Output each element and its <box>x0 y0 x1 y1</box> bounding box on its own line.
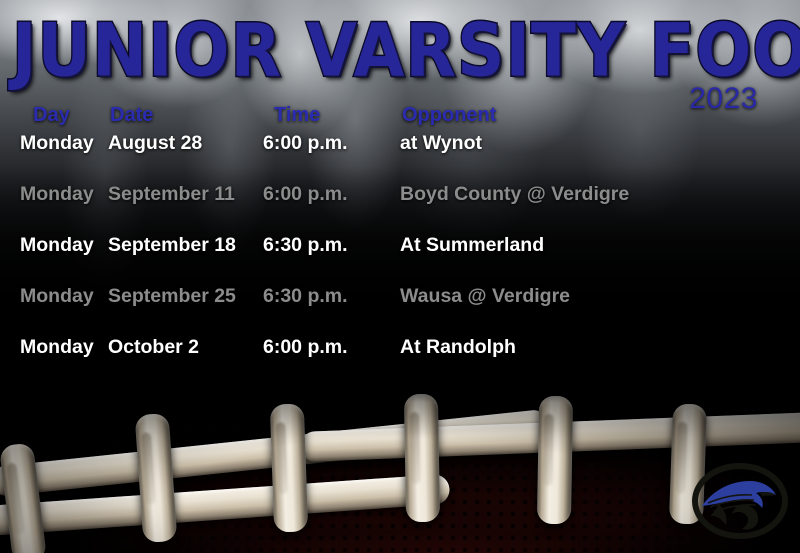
cell-opponent: At Randolph <box>400 336 516 359</box>
column-header-day: Day <box>33 104 70 127</box>
cell-time: 6:00 p.m. <box>263 132 348 155</box>
cell-date: August 28 <box>108 132 202 155</box>
cell-opponent: At Summerland <box>400 234 544 257</box>
cell-date: September 18 <box>108 234 236 257</box>
table-row: Monday September 11 6:00 p.m. Boyd Count… <box>0 183 700 234</box>
cell-opponent: at Wynot <box>400 132 482 155</box>
table-row: Monday August 28 6:00 p.m. at Wynot <box>0 132 700 183</box>
cell-time: 6:30 p.m. <box>263 234 348 257</box>
lace-stitch <box>404 394 440 523</box>
table-header-row: Day Date Time Opponent <box>0 104 700 132</box>
cell-opponent: Boyd County @ Verdigre <box>400 183 629 206</box>
cell-day: Monday <box>20 285 94 308</box>
column-header-date: Date <box>110 104 153 127</box>
table-row: Monday September 18 6:30 p.m. At Summerl… <box>0 234 700 285</box>
cell-day: Monday <box>20 183 94 206</box>
cell-date: September 25 <box>108 285 236 308</box>
cell-day: Monday <box>20 132 94 155</box>
cell-day: Monday <box>20 336 94 359</box>
cougar-head-oval-logo <box>688 461 792 547</box>
lace-stitch <box>537 396 573 525</box>
table-row: Monday October 2 6:00 p.m. At Randolph <box>0 336 700 387</box>
page-title: Junior Varsity Football <box>12 14 800 87</box>
column-header-opponent: Opponent <box>402 104 496 127</box>
cell-time: 6:00 p.m. <box>263 336 348 359</box>
cell-date: October 2 <box>108 336 199 359</box>
cell-time: 6:30 p.m. <box>263 285 348 308</box>
cell-time: 6:00 p.m. <box>263 183 348 206</box>
schedule-table: Day Date Time Opponent Monday August 28 … <box>0 104 700 387</box>
cell-day: Monday <box>20 234 94 257</box>
column-header-time: Time <box>274 104 320 127</box>
cell-opponent: Wausa @ Verdigre <box>400 285 570 308</box>
cell-date: September 11 <box>108 183 235 206</box>
table-row: Monday September 25 6:30 p.m. Wausa @ Ve… <box>0 285 700 336</box>
football-schedule-poster: Junior Varsity Football 2023 Day Date Ti… <box>0 0 800 553</box>
football-closeup-image <box>0 378 800 553</box>
lace-stitch <box>270 403 308 532</box>
